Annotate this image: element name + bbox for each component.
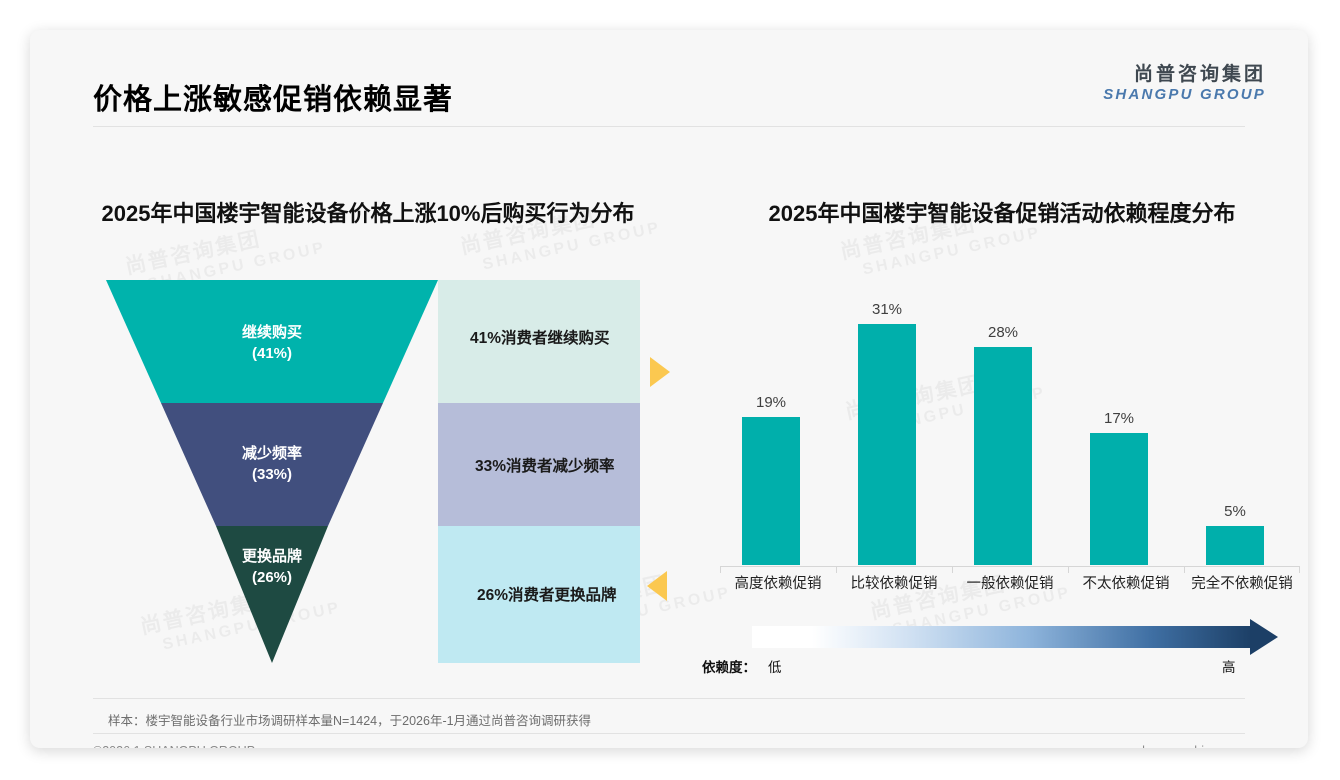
right-chart-title: 2025年中国楼宇智能设备促销活动依赖程度分布 <box>702 198 1302 230</box>
bar-4[interactable] <box>1090 433 1148 565</box>
funnel-segment-3-value: (26%) <box>212 567 332 588</box>
logo-chinese-text: 尚普咨询集团 <box>1103 64 1266 86</box>
bar-1[interactable] <box>742 417 800 565</box>
category-label-4: 不太依赖促销 <box>1068 572 1184 593</box>
note-divider-top <box>93 698 1245 699</box>
brand-logo: 尚普咨询集团 SHANGPU GROUP <box>1103 64 1266 104</box>
left-chart-title: 2025年中国楼宇智能设备价格上涨10%后购买行为分布 <box>48 198 688 230</box>
funnel-segment-1-value: (41%) <box>212 343 332 364</box>
watermark-line2: SHANGPU GROUP <box>861 224 1043 279</box>
bar-chart-x-axis <box>720 566 1300 567</box>
funnel-segment-3-label: 更换品牌 (26%) <box>212 546 332 588</box>
bar-3[interactable] <box>974 347 1032 565</box>
bar-2[interactable] <box>858 324 916 565</box>
funnel-segment-1-label: 继续购买 (41%) <box>212 322 332 364</box>
gradient-bar <box>752 626 1252 648</box>
footer-copyright: ©2026.1 SHANGPU GROUP <box>93 744 255 748</box>
bar-3-value: 28% <box>956 324 1050 341</box>
funnel-segment-1-name: 继续购买 <box>212 322 332 343</box>
bar-chart-category-labels: 高度依赖促销 比较依赖促销 一般依赖促销 不太依赖促销 完全不依赖促销 <box>720 572 1300 598</box>
funnel-segment-3-name: 更换品牌 <box>212 546 332 567</box>
category-label-3: 一般依赖促销 <box>952 572 1068 593</box>
funnel-side-text-2: 33%消费者减少频率 <box>475 454 615 476</box>
note-divider-bottom <box>93 733 1245 734</box>
funnel-segment-2-label: 减少频率 (33%) <box>212 443 332 485</box>
slide-card: 尚普咨询集团 SHANGPU GROUP 尚普咨询集团 SHANGPU GROU… <box>30 30 1308 748</box>
funnel-chart: 继续购买 (41%) 减少频率 (33%) 更换品牌 (26%) 41%消费者继… <box>90 280 650 670</box>
bar-chart: 19% 31% 28% 17% 5% <box>720 300 1300 565</box>
dependency-gradient-legend: 依赖度： 低 高 <box>702 622 1302 682</box>
legend-low-label: 低 <box>768 656 782 676</box>
triangle-left-icon <box>647 571 667 601</box>
bar-4-value: 17% <box>1072 410 1166 427</box>
bar-5[interactable] <box>1206 526 1264 565</box>
bar-2-value: 31% <box>840 301 934 318</box>
slide-header: 价格上涨敏感促销依赖显著 尚普咨询集团 SHANGPU GROUP <box>30 30 1308 122</box>
triangle-right-icon <box>650 357 670 387</box>
legend-high-label: 高 <box>1222 656 1236 676</box>
category-label-1: 高度依赖促销 <box>720 572 836 593</box>
bar-5-value: 5% <box>1188 503 1282 520</box>
footer-website[interactable]: www.shangpu-china.com <box>1106 744 1245 748</box>
funnel-side-text-3: 26%消费者更换品牌 <box>477 583 617 605</box>
funnel-segment-2-value: (33%) <box>212 464 332 485</box>
header-divider <box>93 126 1245 127</box>
page-title: 价格上涨敏感促销依赖显著 <box>93 76 453 118</box>
arrow-right-icon <box>1250 619 1278 655</box>
sample-note: 样本：楼宇智能设备行业市场调研样本量N=1424，于2026年-1月通过尚普咨询… <box>108 710 591 729</box>
bar-1-value: 19% <box>724 394 818 411</box>
category-label-2: 比较依赖促销 <box>836 572 952 593</box>
funnel-segment-2-name: 减少频率 <box>212 443 332 464</box>
legend-key-label: 依赖度： <box>702 656 756 676</box>
logo-english-text: SHANGPU GROUP <box>1103 86 1266 104</box>
funnel-side-text-1: 41%消费者继续购买 <box>470 326 610 348</box>
category-label-5: 完全不依赖促销 <box>1182 572 1302 593</box>
